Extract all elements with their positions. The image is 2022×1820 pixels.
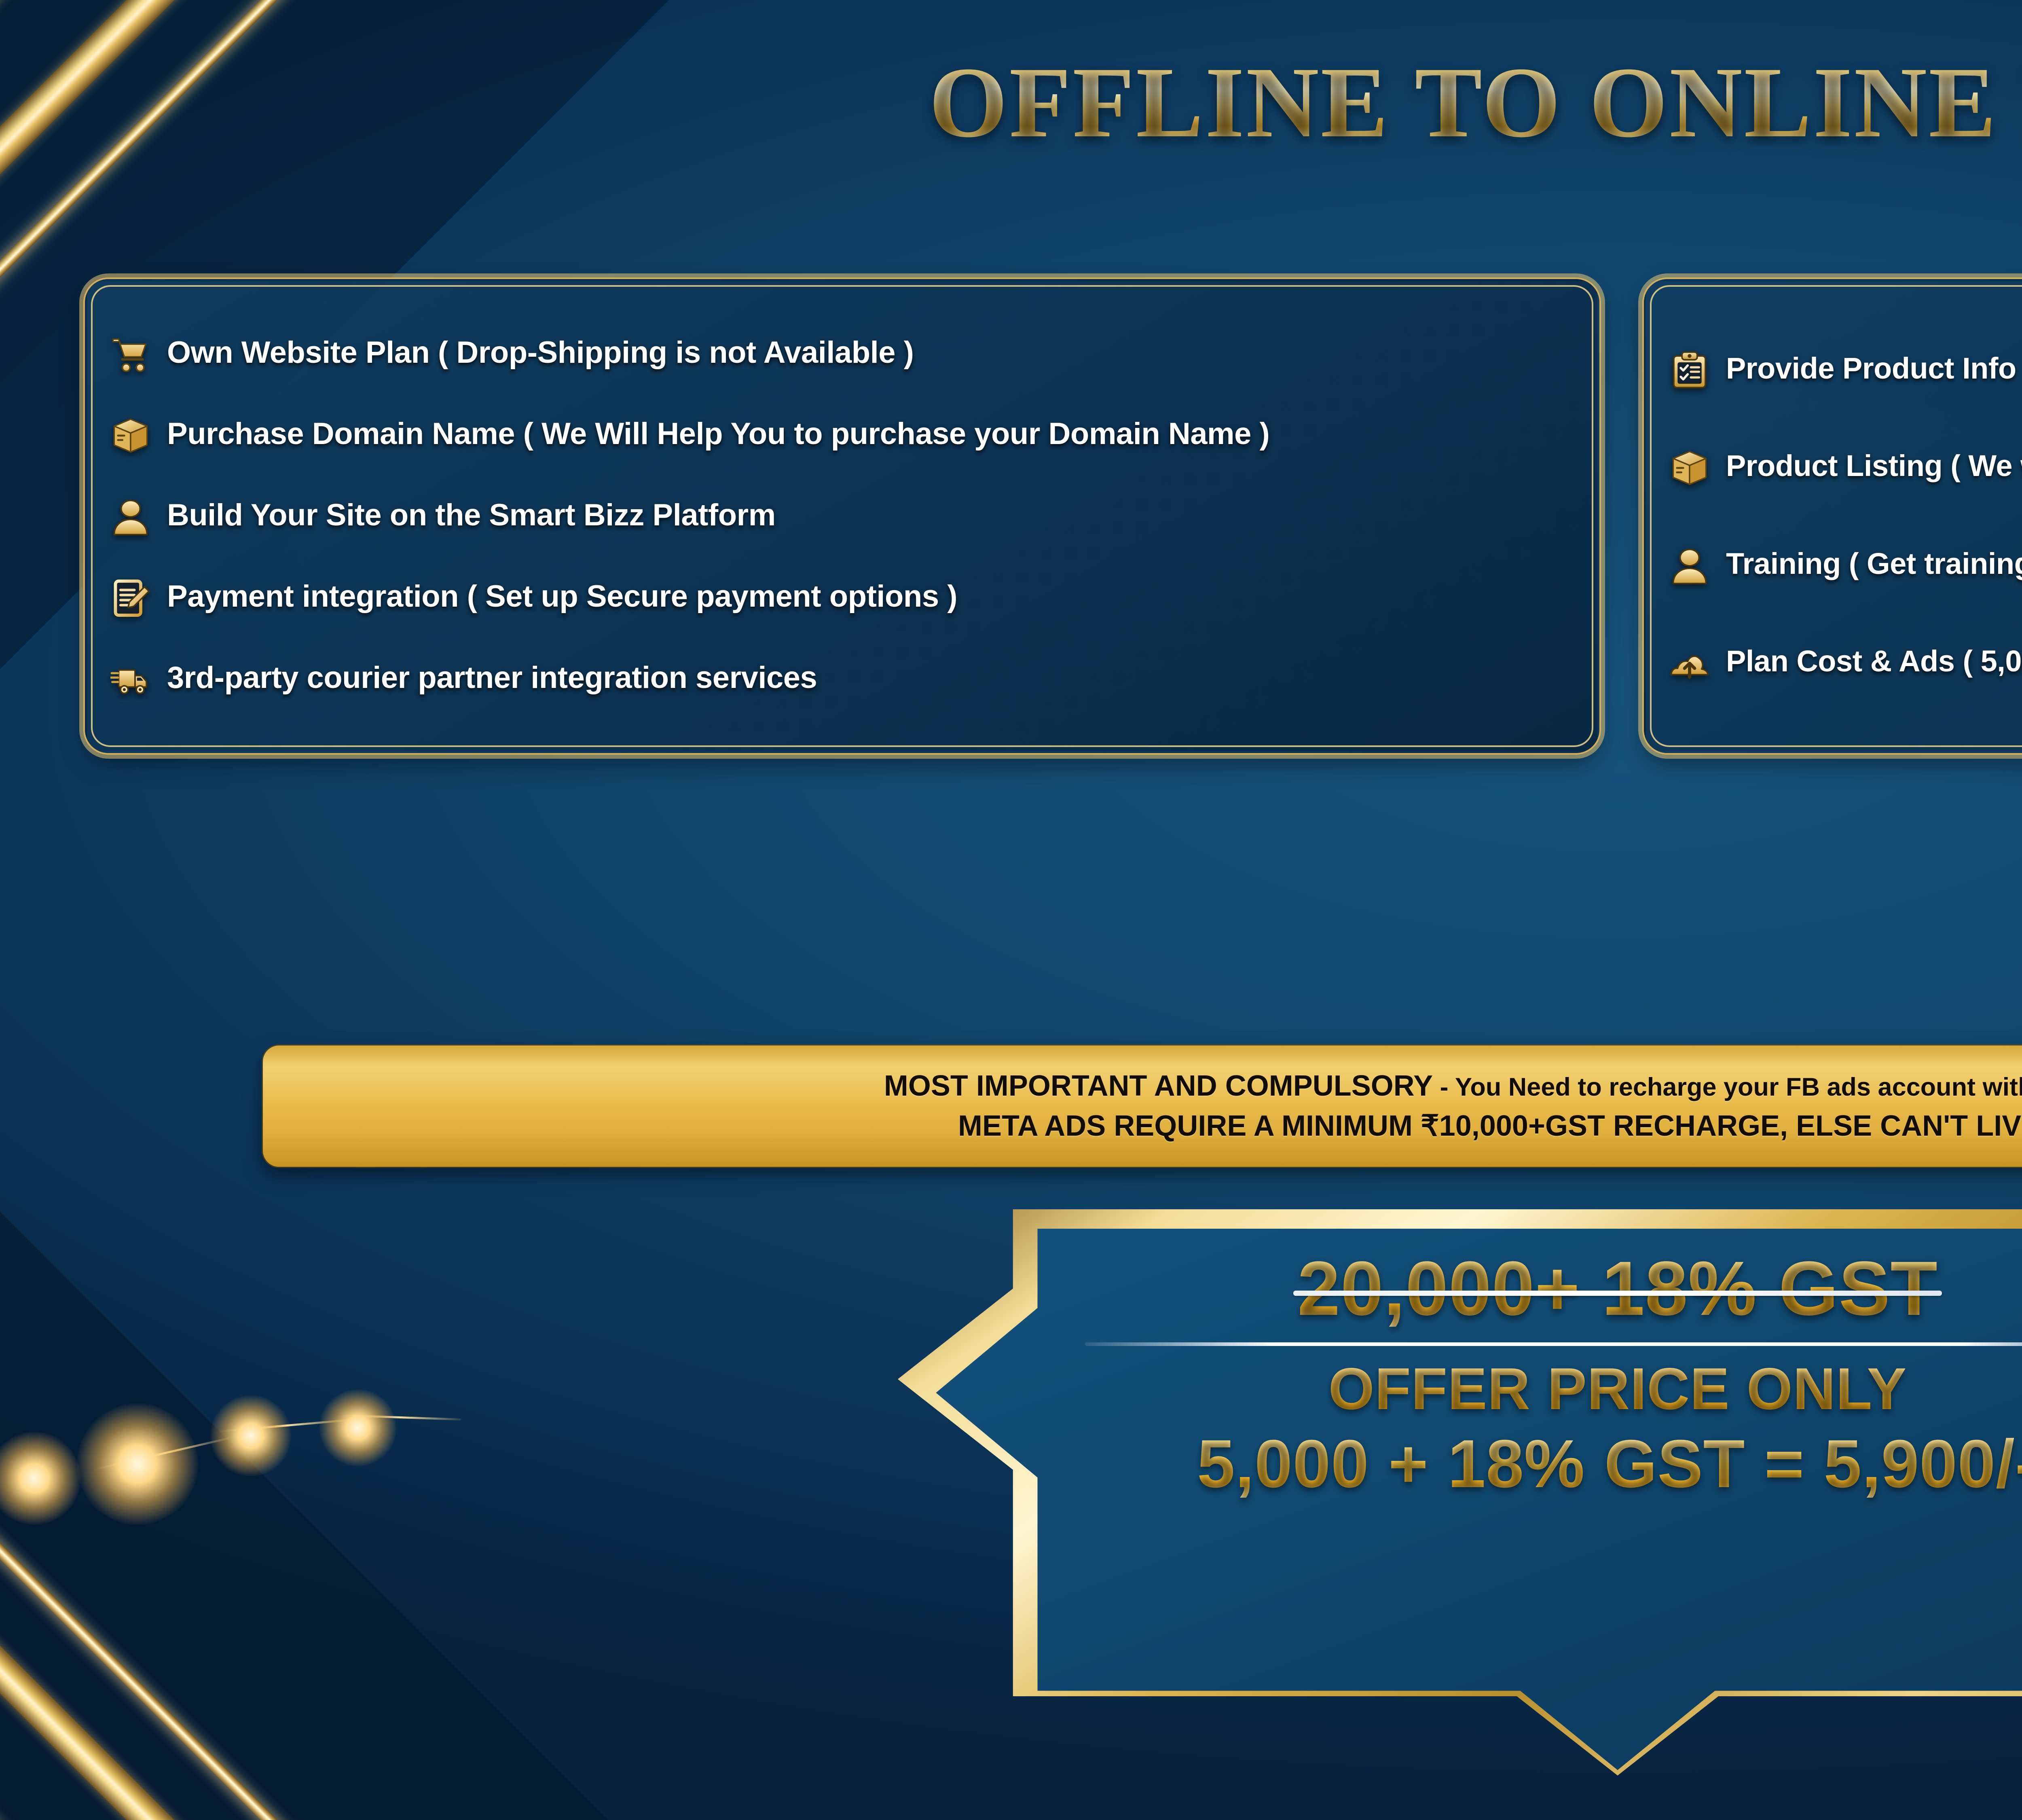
notice-banner-line-2: META ADS REQUIRE A MINIMUM ₹10,000+GST R…: [958, 1110, 2022, 1143]
list-item: Payment integration ( Set up Secure paym…: [108, 571, 1575, 626]
right-feature-panel: Provide Product Info ( Client provides p…: [1644, 279, 2022, 753]
list-item-label: Purchase Domain Name ( We Will Help You …: [167, 413, 1269, 453]
offer-price-value: 5,000 + 18% GST = 5,900/-: [1197, 1424, 2022, 1503]
list-item-label: Provide Product Info ( Client provides p…: [1726, 348, 2022, 387]
original-price: 20,000+ 18% GST: [1297, 1248, 1938, 1329]
user-person-icon: [108, 494, 153, 540]
list-item-label: Payment integration ( Set up Secure paym…: [167, 576, 957, 616]
notice-banner-line-1-rest: - You Need to recharge your FB ads accou…: [1433, 1073, 2022, 1101]
page-title: OFFLINE TO ONLINE PLAN: [0, 44, 2022, 161]
list-item: Plan Cost & Ads ( 5,000+ tax ( Plan Fee …: [1667, 636, 2022, 691]
notice-banner-line-1-strong: MOST IMPORTANT AND COMPULSORY: [884, 1070, 1433, 1102]
promotional-poster: OFFLINE TO ONLINE PLAN Own Website Plan …: [0, 0, 2022, 1820]
list-item: 3rd-party courier partner integration se…: [108, 652, 1575, 707]
list-item: Own Website Plan ( Drop-Shipping is not …: [108, 327, 1575, 382]
list-item: Build Your Site on the Smart Bizz Platfo…: [108, 489, 1575, 544]
light-orb-1: [0, 1432, 81, 1525]
list-item: Purchase Domain Name ( We Will Help You …: [108, 408, 1575, 463]
list-item: Product Listing ( We will List 20 produc…: [1667, 440, 2022, 495]
notice-banner-line-1: MOST IMPORTANT AND COMPULSORY - You Need…: [884, 1070, 2022, 1103]
light-orb-3: [210, 1395, 291, 1476]
left-feature-panel: Own Website Plan ( Drop-Shipping is not …: [85, 279, 1599, 753]
list-item-label: Plan Cost & Ads ( 5,000+ tax ( Plan Fee …: [1726, 641, 2022, 679]
delivery-truck-icon: [108, 657, 153, 702]
price-badge: 20,000+ 18% GST OFFER PRICE ONLY 5,000 +…: [898, 1209, 2022, 1776]
light-orb-4: [319, 1389, 396, 1466]
offer-price-label: OFFER PRICE ONLY: [1328, 1356, 1907, 1422]
light-string-decoration: [0, 1310, 607, 1594]
feature-panels: Own Website Plan ( Drop-Shipping is not …: [85, 279, 2022, 753]
list-item-label: Product Listing ( We will List 20 produc…: [1726, 445, 2022, 484]
list-item-label: 3rd-party courier partner integration se…: [167, 657, 817, 697]
light-orb-2: [77, 1403, 198, 1525]
growth-arrow-icon: [1667, 641, 1712, 686]
clipboard-check-icon: [1667, 348, 1712, 393]
shopping-cart-icon: [108, 332, 153, 377]
package-box-icon: [1667, 445, 1712, 491]
notice-banner: MOST IMPORTANT AND COMPULSORY - You Need…: [263, 1045, 2022, 1167]
package-box-icon: [108, 413, 153, 458]
user-person-icon: [1667, 543, 1712, 588]
price-divider: [1085, 1342, 2022, 1346]
list-item-label: Training ( Get training for adding more …: [1726, 543, 2022, 582]
list-item: Provide Product Info ( Client provides p…: [1667, 343, 2022, 398]
document-pencil-icon: [108, 576, 153, 621]
list-item-label: Own Website Plan ( Drop-Shipping is not …: [167, 332, 914, 372]
list-item: Training ( Get training for adding more …: [1667, 538, 2022, 593]
list-item-label: Build Your Site on the Smart Bizz Platfo…: [167, 494, 776, 534]
